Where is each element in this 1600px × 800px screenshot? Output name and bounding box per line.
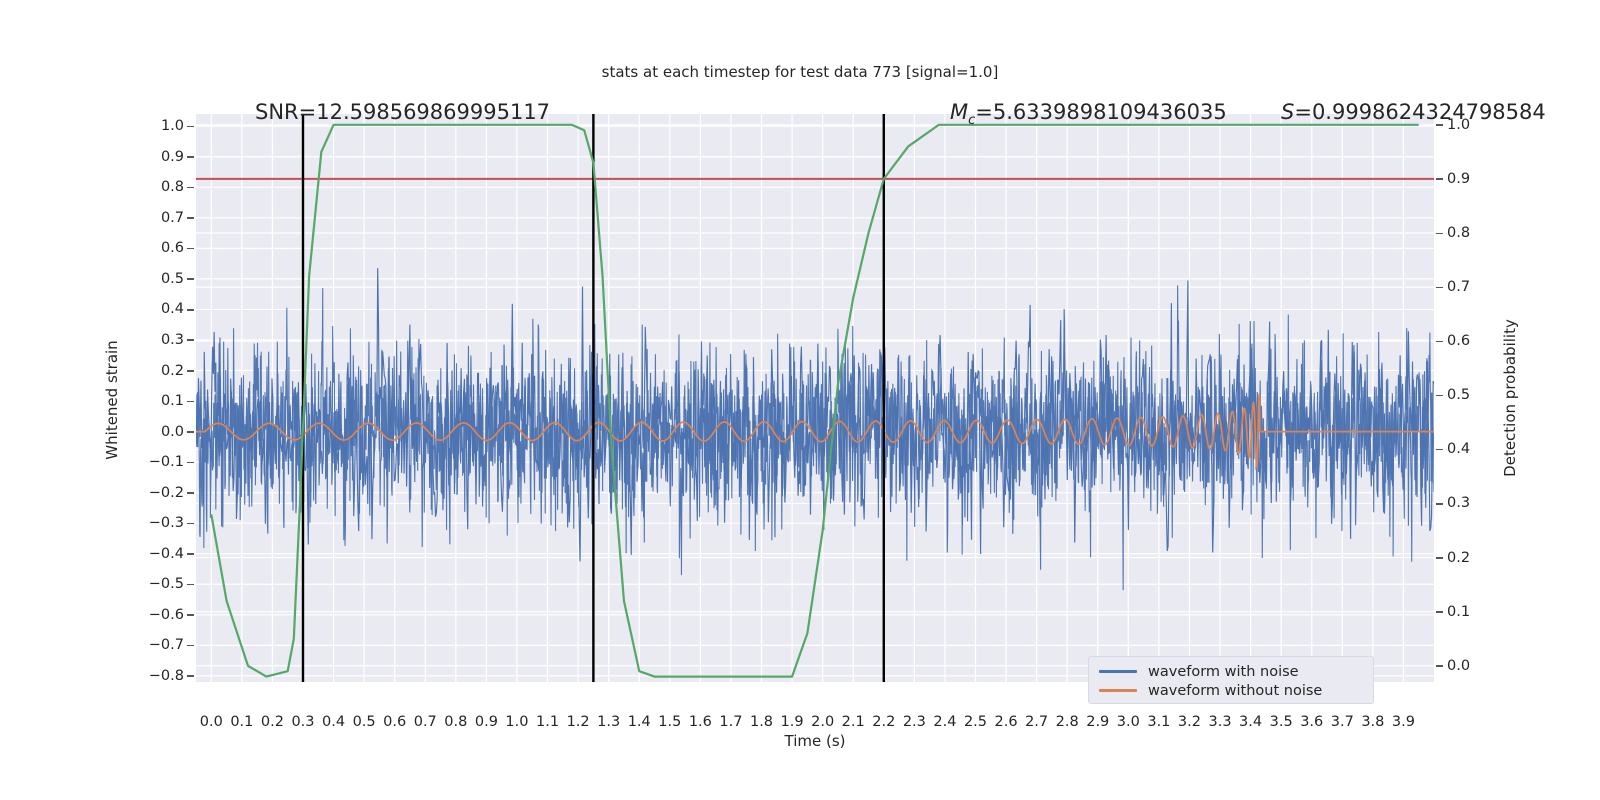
y-tick-label-right: 0.5 bbox=[1447, 387, 1470, 403]
y-tick-label-right: 0.7 bbox=[1447, 279, 1470, 295]
x-tick-label: 1.4 bbox=[628, 714, 651, 730]
x-tick-label: 0.7 bbox=[414, 714, 437, 730]
y-axis-label-left: Whitened strain bbox=[103, 340, 121, 459]
legend-item: waveform with noise bbox=[1099, 662, 1363, 681]
y-tick-mark-left bbox=[187, 675, 194, 677]
y-tick-mark-left bbox=[187, 492, 194, 494]
x-tick-label: 1.7 bbox=[719, 714, 742, 730]
x-tick-label: 1.6 bbox=[689, 714, 712, 730]
y-tick-label-left: −0.7 bbox=[128, 637, 184, 653]
x-tick-label: 2.0 bbox=[811, 714, 834, 730]
plot-svg bbox=[196, 114, 1434, 682]
x-tick-label: 1.3 bbox=[597, 714, 620, 730]
x-tick-label: 1.8 bbox=[750, 714, 773, 730]
x-tick-label: 3.4 bbox=[1239, 714, 1262, 730]
legend-label-with-noise: waveform with noise bbox=[1148, 664, 1299, 680]
y-tick-label-left: 0.0 bbox=[128, 424, 184, 440]
page-title: stats at each timestep for test data 773… bbox=[0, 63, 1600, 81]
y-tick-mark-left bbox=[187, 614, 194, 616]
x-tick-label: 0.8 bbox=[444, 714, 467, 730]
y-tick-mark-left bbox=[187, 553, 194, 555]
mc-symbol: M bbox=[950, 100, 968, 124]
x-tick-label: 3.2 bbox=[1178, 714, 1201, 730]
y-tick-mark-left bbox=[187, 370, 194, 372]
x-tick-label: 0.0 bbox=[200, 714, 223, 730]
annotation-snr: SNR=12.598569869995117 bbox=[255, 100, 550, 124]
y-tick-label-left: −0.4 bbox=[128, 546, 184, 562]
y-tick-mark-left bbox=[187, 126, 194, 128]
y-tick-mark-left bbox=[187, 645, 194, 647]
y-tick-mark-right bbox=[1436, 395, 1443, 397]
y-tick-label-left: −0.3 bbox=[128, 515, 184, 531]
y-tick-label-right: 0.6 bbox=[1447, 333, 1470, 349]
y-tick-label-left: −0.6 bbox=[128, 607, 184, 623]
figure-canvas: stats at each timestep for test data 773… bbox=[0, 0, 1600, 800]
series-waveform-with-noise bbox=[196, 268, 1434, 590]
y-tick-mark-left bbox=[187, 278, 194, 280]
x-tick-label: 0.5 bbox=[353, 714, 376, 730]
y-tick-mark-left bbox=[187, 401, 194, 403]
y-tick-label-left: 0.6 bbox=[128, 240, 184, 256]
x-tick-label: 1.9 bbox=[781, 714, 804, 730]
x-tick-label: 3.9 bbox=[1392, 714, 1415, 730]
annotation-chirp-mass: Mc=5.6339898109436035 bbox=[950, 100, 1227, 128]
legend-item: waveform without noise bbox=[1099, 681, 1363, 700]
x-tick-label: 0.1 bbox=[230, 714, 253, 730]
y-tick-label-left: 0.4 bbox=[128, 301, 184, 317]
y-tick-label-right: 0.0 bbox=[1447, 658, 1470, 674]
y-tick-mark-right bbox=[1436, 449, 1443, 451]
legend-swatch-without-noise bbox=[1099, 689, 1137, 692]
x-tick-label: 3.0 bbox=[1117, 714, 1140, 730]
legend: waveform with noise waveform without noi… bbox=[1088, 656, 1374, 704]
x-tick-label: 2.4 bbox=[933, 714, 956, 730]
y-tick-mark-left bbox=[187, 156, 194, 158]
y-tick-mark-left bbox=[187, 431, 194, 433]
x-tick-label: 2.5 bbox=[964, 714, 987, 730]
y-tick-mark-left bbox=[187, 584, 194, 586]
y-tick-mark-right bbox=[1436, 503, 1443, 505]
x-tick-label: 3.7 bbox=[1331, 714, 1354, 730]
y-tick-label-left: 0.1 bbox=[128, 393, 184, 409]
annotation-score: S=0.9998624324798584 bbox=[1281, 100, 1546, 124]
x-tick-label: 2.6 bbox=[995, 714, 1018, 730]
y-axis-label-right: Detection probability bbox=[1501, 319, 1519, 477]
s-symbol: S bbox=[1281, 100, 1294, 124]
legend-label-without-noise: waveform without noise bbox=[1148, 683, 1322, 699]
x-tick-label: 3.3 bbox=[1208, 714, 1231, 730]
y-tick-label-right: 0.8 bbox=[1447, 225, 1470, 241]
y-tick-label-right: 0.2 bbox=[1447, 550, 1470, 566]
y-tick-mark-right bbox=[1436, 287, 1443, 289]
y-tick-mark-left bbox=[187, 248, 194, 250]
x-tick-label: 0.9 bbox=[475, 714, 498, 730]
x-tick-label: 0.6 bbox=[383, 714, 406, 730]
x-tick-label: 0.2 bbox=[261, 714, 284, 730]
mc-value: =5.6339898109436035 bbox=[975, 100, 1226, 124]
y-tick-label-left: 0.3 bbox=[128, 332, 184, 348]
legend-swatch-with-noise bbox=[1099, 670, 1137, 673]
y-tick-label-left: 0.8 bbox=[128, 179, 184, 195]
x-tick-label: 3.6 bbox=[1300, 714, 1323, 730]
y-tick-label-right: 0.1 bbox=[1447, 604, 1470, 620]
x-tick-label: 2.7 bbox=[1025, 714, 1048, 730]
y-tick-label-left: 0.5 bbox=[128, 271, 184, 287]
y-tick-mark-left bbox=[187, 187, 194, 189]
y-tick-mark-left bbox=[187, 309, 194, 311]
x-tick-label: 2.3 bbox=[903, 714, 926, 730]
y-tick-mark-left bbox=[187, 462, 194, 464]
y-tick-label-left: 0.2 bbox=[128, 363, 184, 379]
y-tick-mark-right bbox=[1436, 665, 1443, 667]
y-tick-mark-right bbox=[1436, 611, 1443, 613]
y-tick-label-left: −0.8 bbox=[128, 668, 184, 684]
x-tick-label: 3.5 bbox=[1270, 714, 1293, 730]
y-tick-mark-right bbox=[1436, 341, 1443, 343]
y-tick-label-left: 0.9 bbox=[128, 149, 184, 165]
y-tick-label-left: −0.5 bbox=[128, 576, 184, 592]
y-tick-mark-right bbox=[1436, 557, 1443, 559]
y-tick-mark-left bbox=[187, 339, 194, 341]
x-tick-label: 2.9 bbox=[1086, 714, 1109, 730]
y-tick-mark-right bbox=[1436, 233, 1443, 235]
x-tick-label: 2.8 bbox=[1056, 714, 1079, 730]
x-tick-label: 3.8 bbox=[1361, 714, 1384, 730]
y-tick-label-right: 0.9 bbox=[1447, 171, 1470, 187]
y-tick-label-right: 0.3 bbox=[1447, 495, 1470, 511]
x-tick-label: 1.1 bbox=[536, 714, 559, 730]
y-tick-mark-right bbox=[1436, 124, 1443, 126]
x-tick-label: 1.2 bbox=[567, 714, 590, 730]
plot-area bbox=[196, 114, 1434, 682]
y-tick-label-left: 0.7 bbox=[128, 210, 184, 226]
x-axis-label: Time (s) bbox=[785, 732, 846, 750]
y-tick-mark-right bbox=[1436, 178, 1443, 180]
y-tick-mark-left bbox=[187, 523, 194, 525]
x-tick-label: 0.4 bbox=[322, 714, 345, 730]
y-tick-label-left: 1.0 bbox=[128, 118, 184, 134]
x-tick-label: 2.1 bbox=[842, 714, 865, 730]
s-value: =0.9998624324798584 bbox=[1294, 100, 1545, 124]
x-tick-label: 2.2 bbox=[872, 714, 895, 730]
y-tick-label-left: −0.2 bbox=[128, 485, 184, 501]
y-tick-mark-left bbox=[187, 217, 194, 219]
x-tick-label: 0.3 bbox=[291, 714, 314, 730]
y-tick-label-left: −0.1 bbox=[128, 454, 184, 470]
x-tick-label: 1.0 bbox=[505, 714, 528, 730]
x-tick-label: 1.5 bbox=[658, 714, 681, 730]
x-tick-label: 3.1 bbox=[1147, 714, 1170, 730]
y-tick-label-right: 0.4 bbox=[1447, 441, 1470, 457]
